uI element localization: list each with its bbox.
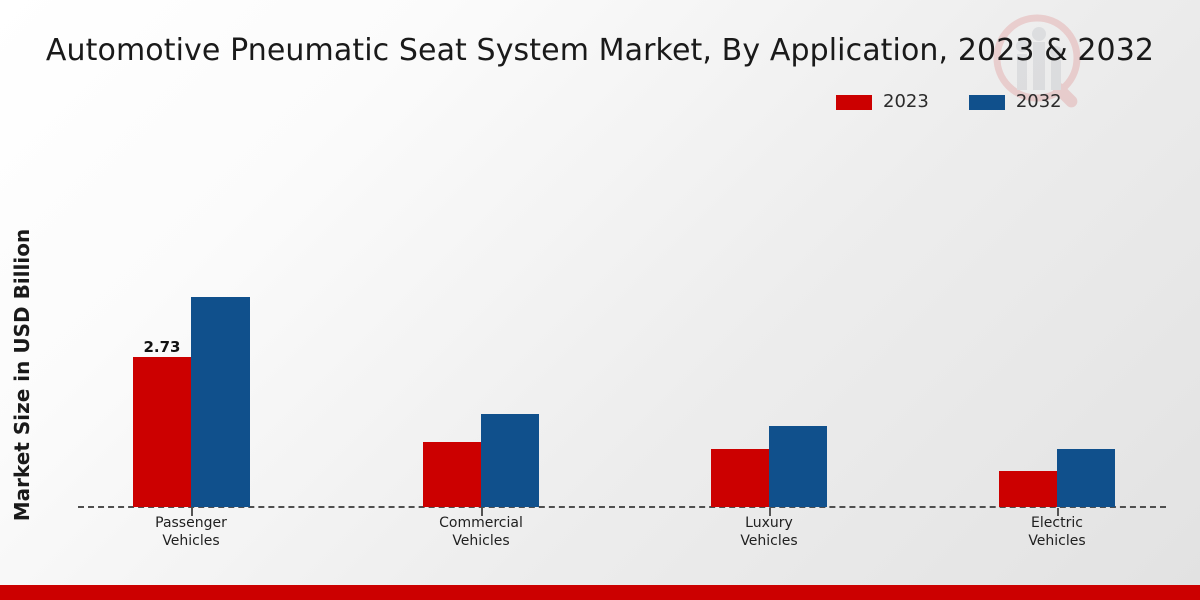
category-line-1: Passenger bbox=[111, 514, 271, 532]
bar-value-label-2023-passenger-vehicles: 2.73 bbox=[133, 338, 191, 356]
bottom-accent-band bbox=[0, 585, 1200, 600]
chart-container: Automotive Pneumatic Seat System Market,… bbox=[0, 0, 1200, 600]
bar-2023-luxury-vehicles[interactable] bbox=[711, 449, 769, 507]
category-line-1: Commercial bbox=[401, 514, 561, 532]
bar-2032-luxury-vehicles[interactable] bbox=[769, 426, 827, 507]
category-line-2: Vehicles bbox=[689, 532, 849, 550]
bar-2032-commercial-vehicles[interactable] bbox=[481, 414, 539, 507]
x-axis-category-label-3: Luxury Vehicles bbox=[689, 514, 849, 550]
plot-area: 2.73 Passenger Vehicles Commercial Vehic… bbox=[0, 0, 1200, 600]
category-line-1: Luxury bbox=[689, 514, 849, 532]
bar-2032-electric-vehicles[interactable] bbox=[1057, 449, 1115, 507]
category-line-2: Vehicles bbox=[401, 532, 561, 550]
bar-2032-passenger-vehicles[interactable] bbox=[191, 297, 250, 507]
category-line-2: Vehicles bbox=[111, 532, 271, 550]
x-axis-category-label-2: Commercial Vehicles bbox=[401, 514, 561, 550]
x-axis-category-label-1: Passenger Vehicles bbox=[111, 514, 271, 550]
category-line-1: Electric bbox=[977, 514, 1137, 532]
category-line-2: Vehicles bbox=[977, 532, 1137, 550]
x-axis-category-label-4: Electric Vehicles bbox=[977, 514, 1137, 550]
bar-2023-electric-vehicles[interactable] bbox=[999, 471, 1057, 507]
bar-2023-commercial-vehicles[interactable] bbox=[423, 442, 481, 507]
bar-2023-passenger-vehicles[interactable] bbox=[133, 357, 191, 507]
